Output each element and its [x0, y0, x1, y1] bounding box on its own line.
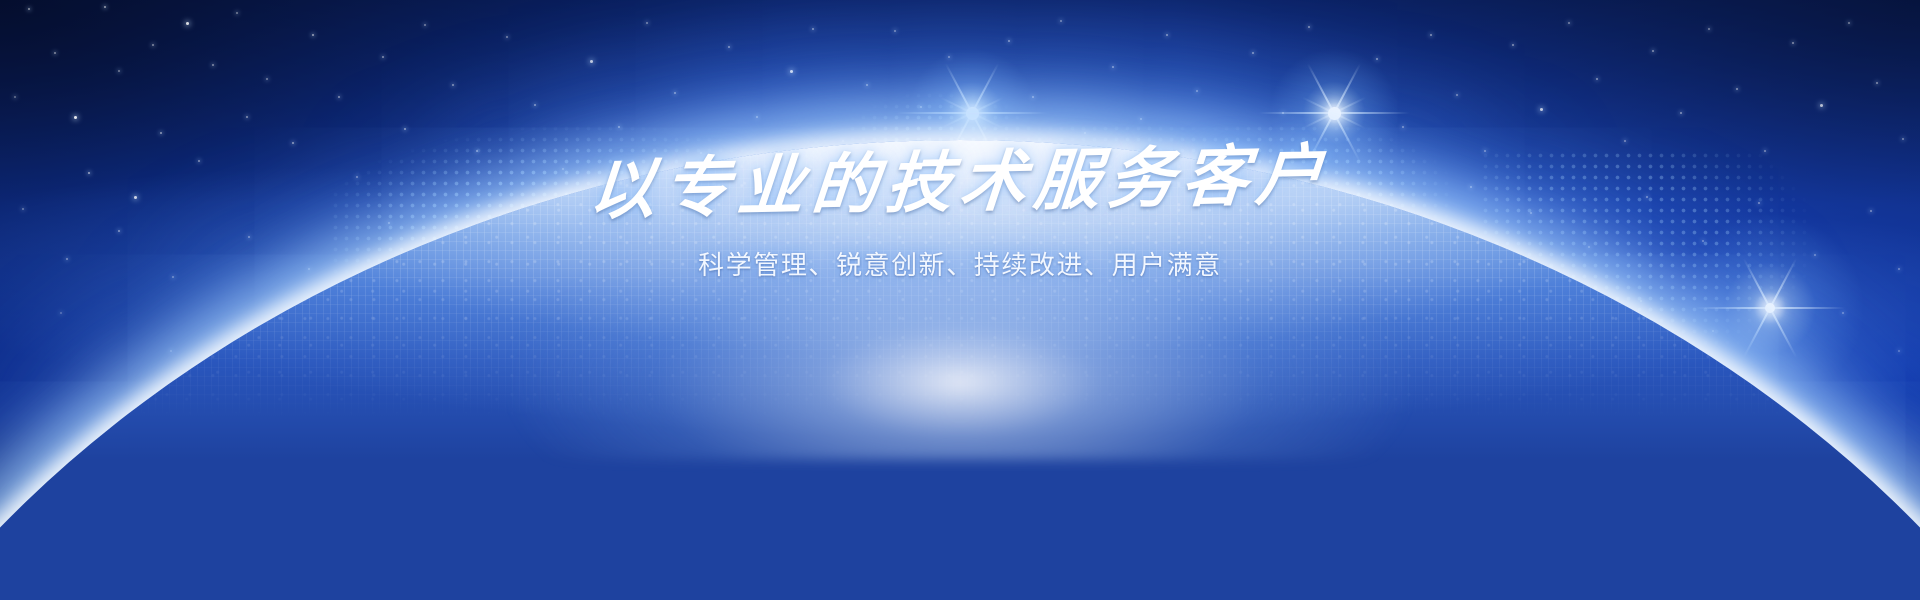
star-icon — [1402, 126, 1404, 128]
star-icon — [1540, 108, 1543, 111]
star-icon — [1680, 112, 1682, 114]
star-icon — [1112, 66, 1114, 68]
star-icon — [920, 106, 922, 108]
star-icon — [104, 6, 106, 8]
star-icon — [1308, 26, 1310, 28]
banner-subtitle: 科学管理、锐意创新、持续改进、用户满意 — [0, 246, 1920, 285]
star-icon — [894, 30, 896, 32]
star-icon — [1060, 20, 1062, 22]
star-icon — [590, 60, 593, 63]
star-icon — [1376, 58, 1378, 60]
star-icon — [728, 46, 730, 48]
star-icon — [506, 36, 508, 38]
star-icon — [212, 64, 214, 66]
star-icon — [54, 52, 56, 54]
star-icon — [1848, 22, 1850, 24]
star-icon — [246, 116, 248, 118]
star-icon — [382, 56, 384, 58]
star-icon — [1876, 82, 1878, 84]
star-icon — [674, 92, 676, 94]
star-icon — [452, 84, 454, 86]
star-icon — [404, 128, 406, 130]
star-icon — [534, 104, 536, 106]
star-icon — [186, 22, 189, 25]
star-icon — [14, 96, 16, 98]
star-icon — [74, 116, 77, 119]
star-icon — [312, 34, 314, 36]
star-icon — [152, 44, 154, 46]
star-icon — [338, 96, 340, 98]
star-icon — [1282, 112, 1284, 114]
star-icon — [1596, 78, 1598, 80]
star-icon — [1456, 94, 1458, 96]
star-icon — [1032, 96, 1034, 98]
star-icon — [1512, 44, 1514, 46]
star-icon — [1084, 132, 1086, 134]
star-icon — [424, 24, 426, 26]
star-icon — [160, 132, 162, 134]
star-icon — [618, 126, 620, 128]
star-icon — [866, 84, 868, 86]
hero-banner: 以专业的技术服务客户 科学管理、锐意创新、持续改进、用户满意 — [0, 0, 1920, 600]
star-icon — [1820, 104, 1823, 107]
star-icon — [646, 22, 648, 24]
star-icon — [1140, 118, 1142, 120]
star-icon — [1430, 34, 1432, 36]
star-icon — [1708, 28, 1710, 30]
star-icon — [812, 28, 814, 30]
star-icon — [1196, 90, 1198, 92]
star-icon — [236, 12, 238, 14]
star-icon — [1792, 42, 1794, 44]
star-icon — [1166, 34, 1168, 36]
star-icon — [1252, 52, 1254, 54]
star-icon — [1568, 22, 1570, 24]
banner-copy: 以专业的技术服务客户 科学管理、锐意创新、持续改进、用户满意 — [0, 146, 1920, 285]
star-icon — [118, 70, 120, 72]
star-icon — [1008, 40, 1010, 42]
star-icon — [266, 78, 268, 80]
star-icon — [790, 70, 793, 73]
star-icon — [756, 116, 758, 118]
star-icon — [28, 8, 30, 10]
star-icon — [1652, 50, 1654, 52]
star-icon — [948, 56, 950, 58]
star-icon — [1736, 88, 1738, 90]
